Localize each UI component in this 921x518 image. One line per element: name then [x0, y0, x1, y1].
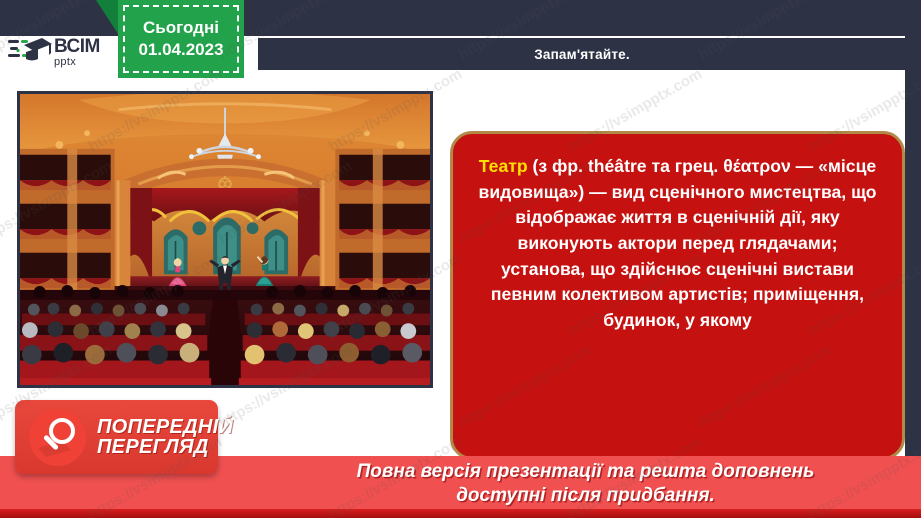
graduation-cap-icon	[8, 35, 52, 69]
today-date: 01.04.2023	[138, 39, 223, 61]
preview-button-label: ПОПЕРЕДНІЙ ПЕРЕГЛЯД	[97, 417, 233, 458]
definition-card: Театр (з фр. théâtre та грец. θέατρον — …	[450, 131, 905, 460]
definition-body: (з фр. théâtre та грец. θέατρον — «місце…	[479, 156, 877, 330]
section-title: Запам'ятайте.	[534, 47, 630, 62]
theatre-hall-illustration	[17, 91, 433, 388]
magnifier-icon	[29, 409, 86, 466]
today-date-badge: Сьогодні 01.04.2023	[118, 0, 244, 78]
brand-logo[interactable]: ВСІМ pptx	[8, 32, 120, 72]
presentation-slide: ВСІМ pptx Сьогодні 01.04.2023 Запам'ятай…	[0, 0, 921, 518]
definition-keyword: Театр	[479, 156, 528, 176]
purchase-banner-line2: доступні після придбання.	[250, 484, 921, 508]
definition-text: Театр (з фр. théâtre та грец. θέατρον — …	[475, 154, 880, 334]
logo-title: ВСІМ	[54, 37, 100, 56]
preview-button-line2: ПЕРЕГЛЯД	[97, 437, 233, 457]
purchase-banner-line1: Повна версія презентації та решта доповн…	[250, 460, 921, 484]
logo-subtitle: pptx	[54, 57, 100, 68]
preview-button-line1: ПОПЕРЕДНІЙ	[97, 417, 233, 437]
logo-wordmark: ВСІМ pptx	[54, 37, 100, 68]
today-label: Сьогодні	[143, 17, 219, 39]
purchase-banner-text: Повна версія презентації та решта доповн…	[250, 460, 921, 509]
section-title-bar: Запам'ятайте.	[258, 38, 906, 70]
preview-button[interactable]: ПОПЕРЕДНІЙ ПЕРЕГЛЯД	[15, 400, 218, 474]
